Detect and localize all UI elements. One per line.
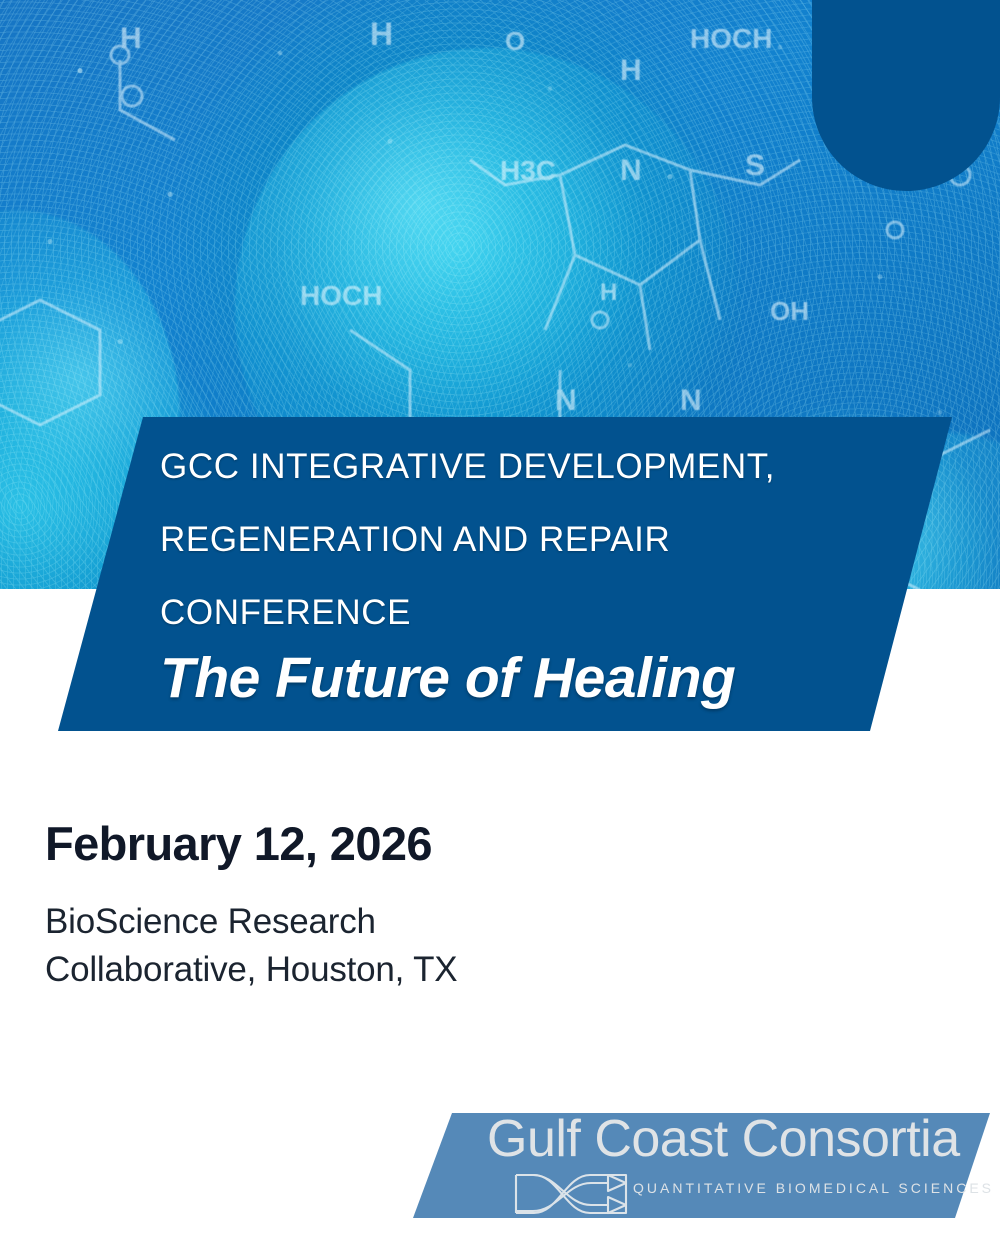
svg-text:O: O: [505, 26, 525, 56]
svg-text:N: N: [555, 384, 577, 417]
svg-text:H: H: [370, 16, 393, 52]
svg-text:N: N: [680, 384, 702, 417]
svg-text:H3C: H3C: [500, 155, 556, 186]
svg-text:HOCH: HOCH: [300, 280, 382, 311]
svg-text:H: H: [555, 541, 574, 571]
svg-text:H: H: [410, 536, 429, 566]
rounded-corner-tab: [812, 0, 1000, 191]
logo-tagline: QUANTITATIVE BIOMEDICAL SCIENCES: [633, 1181, 994, 1195]
event-venue-line-1: BioScience Research: [45, 898, 765, 946]
svg-text:OH: OH: [770, 296, 809, 326]
event-date: February 12, 2026: [45, 818, 765, 870]
svg-text:N: N: [620, 154, 642, 187]
event-venue-line-2: Collaborative, Houston, TX: [45, 946, 765, 994]
banner-tagline: The Future of Healing: [160, 645, 920, 711]
svg-text:H: H: [620, 54, 642, 87]
svg-text:H: H: [600, 279, 617, 306]
braided-helix-mark: [513, 1173, 629, 1215]
event-venue: BioScience Research Collaborative, Houst…: [45, 898, 765, 995]
svg-text:S: S: [745, 149, 765, 182]
svg-text:HOCH: HOCH: [690, 23, 772, 54]
event-poster: H H HOCH HOCH OH O H H3C N S SO N N H H …: [0, 0, 1000, 1249]
svg-text:H: H: [120, 22, 142, 55]
logo-wordmark: Gulf Coast Consortia: [487, 1113, 960, 1165]
event-details: February 12, 2026 BioScience Research Co…: [45, 818, 765, 994]
